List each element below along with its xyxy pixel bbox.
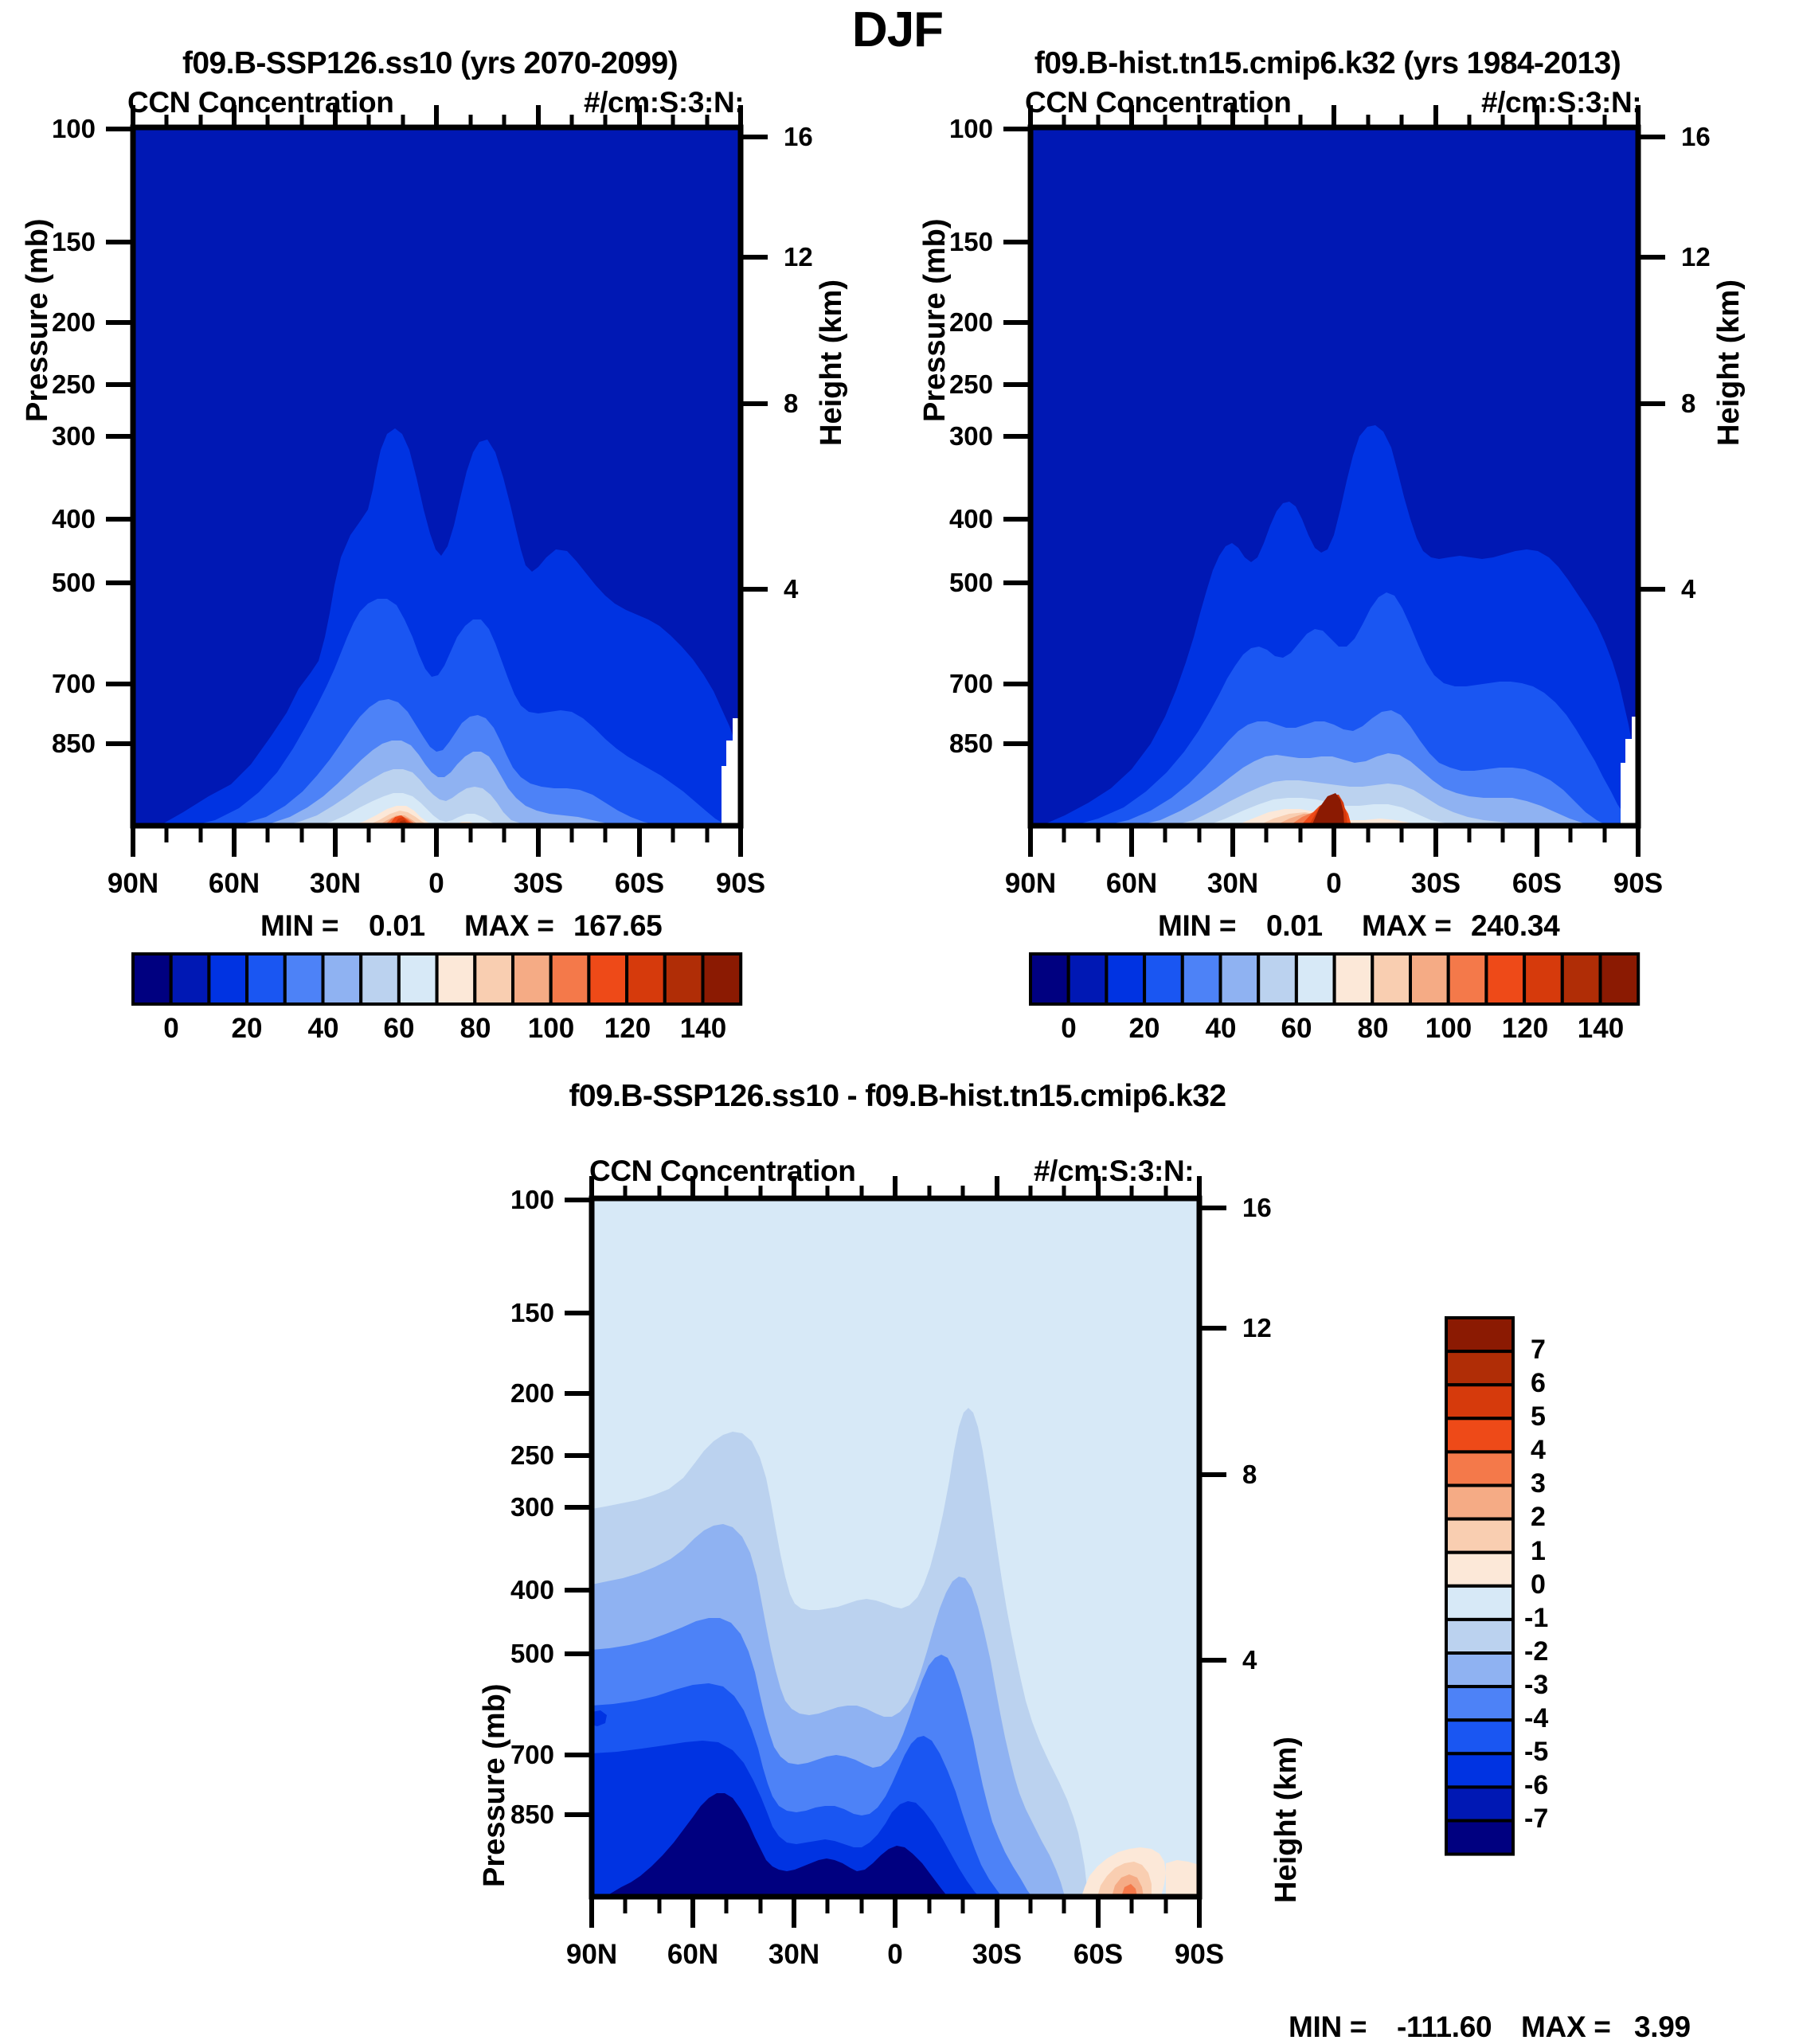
colorbar-swatches (1030, 954, 1638, 1004)
ytick-label: 300 (24, 421, 96, 451)
y2tick-label: 4 (1681, 574, 1695, 604)
colorbar-tick-label: 7 (1531, 1335, 1546, 1366)
right-axis-ticks (1638, 137, 1665, 589)
ytick-label: 700 (921, 669, 993, 699)
left-axis-ticks (1003, 129, 1030, 744)
xtick-label: 90S (677, 868, 804, 900)
y2tick-label: 12 (1242, 1313, 1272, 1343)
ytick-label: 850 (921, 729, 993, 759)
y2tick-label: 16 (784, 122, 813, 152)
bottom-axis-ticks (1030, 826, 1638, 857)
min-value: 0.01 (369, 909, 425, 943)
ytick-label: 400 (921, 504, 993, 534)
colorbar-swatches (133, 954, 741, 1004)
left-axis-ticks (565, 1200, 592, 1815)
xtick-label: 90S (1136, 1939, 1263, 1971)
ytick-label: 100 (921, 114, 993, 144)
y2tick-label: 4 (784, 574, 798, 604)
max-value: 167.65 (573, 909, 662, 943)
min-value: 0.01 (1266, 909, 1323, 943)
ytick-label: 250 (921, 369, 993, 400)
max-value: 3.99 (1634, 2011, 1691, 2044)
contour-fill-group (1030, 127, 1638, 826)
right-axis-ticks (741, 137, 768, 589)
colorbar-tick-label: -5 (1524, 1737, 1548, 1768)
colorbar-tick-label: 5 (1531, 1401, 1546, 1432)
right-axis-ticks (1199, 1208, 1226, 1660)
y2tick-label: 8 (1681, 389, 1695, 419)
colorbar-vertical (1433, 1318, 1672, 1891)
panel-top-left: f09.B-SSP126.ss10 (yrs 2070-2099) CCN Co… (0, 0, 897, 1059)
y2tick-label: 8 (1242, 1460, 1257, 1490)
y2tick-label: 16 (1681, 122, 1711, 152)
xtick-label: 90S (1574, 868, 1702, 900)
max-label: MAX = (1362, 909, 1452, 943)
ytick-label: 700 (483, 1740, 554, 1770)
max-label: MAX = (1521, 2011, 1611, 2044)
y2tick-label: 8 (784, 389, 798, 419)
colorbar-tick-label: -7 (1524, 1804, 1548, 1835)
ytick-label: 400 (24, 504, 96, 534)
ytick-label: 850 (24, 729, 96, 759)
ytick-label: 400 (483, 1575, 554, 1605)
ytick-label: 200 (921, 307, 993, 338)
ytick-label: 150 (483, 1298, 554, 1328)
colorbar-tick-label: 140 (1537, 1013, 1664, 1045)
colorbar-tick-label: 2 (1531, 1502, 1546, 1533)
panel-plot-area (0, 0, 897, 940)
panel-top-right: f09.B-hist.tn15.cmip6.k32 (yrs 1984-2013… (897, 0, 1795, 1059)
y2tick-label: 12 (784, 242, 813, 272)
contour-fill-group (133, 127, 741, 826)
top-axis-ticks (133, 105, 741, 127)
contour-fill-group (592, 1198, 1199, 1897)
ytick-label: 850 (483, 1800, 554, 1830)
ytick-label: 100 (483, 1185, 554, 1215)
ytick-label: 300 (921, 421, 993, 451)
colorbar-tick-label: -2 (1524, 1636, 1548, 1667)
panel-plot-area (897, 0, 1795, 940)
min-label: MIN = (1289, 2011, 1367, 2044)
ytick-label: 500 (24, 568, 96, 598)
colorbar-tick-label: 4 (1531, 1435, 1546, 1466)
colorbar-tick-label: 3 (1531, 1468, 1546, 1499)
min-label: MIN = (1158, 909, 1236, 943)
min-value: -111.60 (1397, 2011, 1492, 2044)
ytick-label: 500 (483, 1639, 554, 1669)
colorbar-tick-label: -3 (1524, 1670, 1548, 1701)
colorbar-tick-label: -6 (1524, 1770, 1548, 1801)
colorbar-tick-label: -4 (1524, 1703, 1548, 1734)
ytick-label: 150 (921, 227, 993, 257)
ytick-label: 200 (483, 1378, 554, 1409)
colorbar-tick-label: 0 (1531, 1569, 1546, 1600)
max-value: 240.34 (1471, 909, 1559, 943)
top-axis-ticks (1030, 105, 1638, 127)
bottom-axis-ticks (592, 1897, 1199, 1928)
y2tick-label: 12 (1681, 242, 1711, 272)
top-axis-ticks (592, 1176, 1199, 1198)
panel-bottom-diff: f09.B-SSP126.ss10 - f09.B-hist.tn15.cmip… (0, 1059, 1795, 1912)
ytick-label: 250 (24, 369, 96, 400)
y2tick-label: 4 (1242, 1645, 1257, 1675)
ytick-label: 700 (24, 669, 96, 699)
colorbar-tick-label: 1 (1531, 1536, 1546, 1567)
colorbar-tick-label: 6 (1531, 1368, 1546, 1399)
colorbar-swatches (1446, 1318, 1513, 1854)
left-axis-ticks (106, 129, 133, 744)
figure-root: DJF f09.B-SSP126.ss10 (yrs 2070-2099) CC… (0, 0, 1795, 1912)
ytick-label: 250 (483, 1440, 554, 1471)
ytick-label: 150 (24, 227, 96, 257)
ytick-label: 100 (24, 114, 96, 144)
colorbar-tick-label: 140 (639, 1013, 767, 1045)
bottom-axis-ticks (133, 826, 741, 857)
max-label: MAX = (464, 909, 554, 943)
ytick-label: 200 (24, 307, 96, 338)
colorbar-tick-label: -1 (1524, 1603, 1548, 1634)
y2tick-label: 16 (1242, 1193, 1272, 1223)
ytick-label: 500 (921, 568, 993, 598)
min-label: MIN = (260, 909, 338, 943)
ytick-label: 300 (483, 1492, 554, 1522)
